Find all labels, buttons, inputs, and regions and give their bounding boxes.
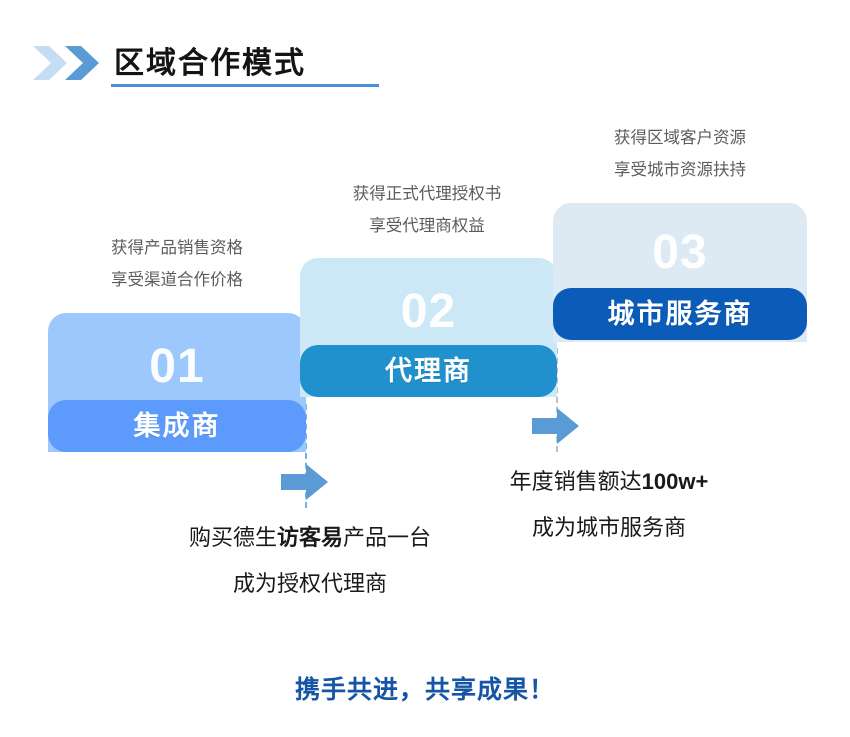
arrow-right-1 (281, 462, 329, 507)
step-card-2-number: 02 (300, 288, 557, 336)
step-caption-3-line2: 享受城市资源扶持 (551, 154, 809, 186)
step-card-1[interactable]: 01 集成商 (48, 313, 306, 452)
step-caption-1-line1: 获得产品销售资格 (48, 232, 306, 264)
section-header: 区域合作模式 (33, 38, 553, 88)
step-card-2[interactable]: 02 代理商 (300, 258, 557, 397)
step-caption-2-line1: 获得正式代理授权书 (296, 178, 558, 210)
step-caption-2: 获得正式代理授权书 享受代理商权益 (296, 178, 558, 242)
title-underline (111, 84, 379, 87)
step-next-desc-2: 年度销售额达100w+ 成为城市服务商 (444, 459, 774, 551)
step-caption-3: 获得区域客户资源 享受城市资源扶持 (551, 122, 809, 186)
footer-tagline: 携手共进，共享成果！ (0, 670, 850, 706)
step-card-3-number: 03 (553, 229, 807, 277)
page-title: 区域合作模式 (114, 38, 306, 82)
arrow-right-icon (532, 406, 580, 446)
desc1-prefix: 购买德生 (189, 525, 277, 550)
step-card-2-label: 代理商 (300, 358, 557, 385)
arrow-right-icon (281, 462, 329, 502)
step-caption-1: 获得产品销售资格 享受渠道合作价格 (48, 232, 306, 296)
step-card-3-label: 城市服务商 (553, 301, 807, 328)
desc2-strong: 100w+ (642, 469, 709, 494)
step-card-1-number: 01 (48, 343, 306, 391)
double-chevron-right-icon (33, 44, 105, 82)
step-card-3[interactable]: 03 城市服务商 (553, 203, 807, 342)
step-next-desc-1-line2: 成为授权代理商 (145, 561, 475, 607)
arrow-right-2 (532, 406, 580, 451)
step-next-desc-2-line1: 年度销售额达100w+ (444, 459, 774, 505)
infographic-canvas: 区域合作模式 获得产品销售资格 享受渠道合作价格 获得正式代理授权书 享受代理商… (0, 0, 850, 737)
step-next-desc-2-line2: 成为城市服务商 (444, 505, 774, 551)
desc1-suffix: 产品一台 (343, 525, 431, 550)
step-card-1-label: 集成商 (48, 413, 306, 440)
step-next-desc-1-line1: 购买德生访客易产品一台 (145, 515, 475, 561)
desc2-prefix: 年度销售额达 (510, 469, 642, 494)
step-caption-2-line2: 享受代理商权益 (296, 210, 558, 242)
step-caption-3-line1: 获得区域客户资源 (551, 122, 809, 154)
step-next-desc-1: 购买德生访客易产品一台 成为授权代理商 (145, 515, 475, 607)
desc1-strong: 访客易 (277, 525, 343, 550)
step-caption-1-line2: 享受渠道合作价格 (48, 264, 306, 296)
chevron-group (33, 44, 105, 82)
